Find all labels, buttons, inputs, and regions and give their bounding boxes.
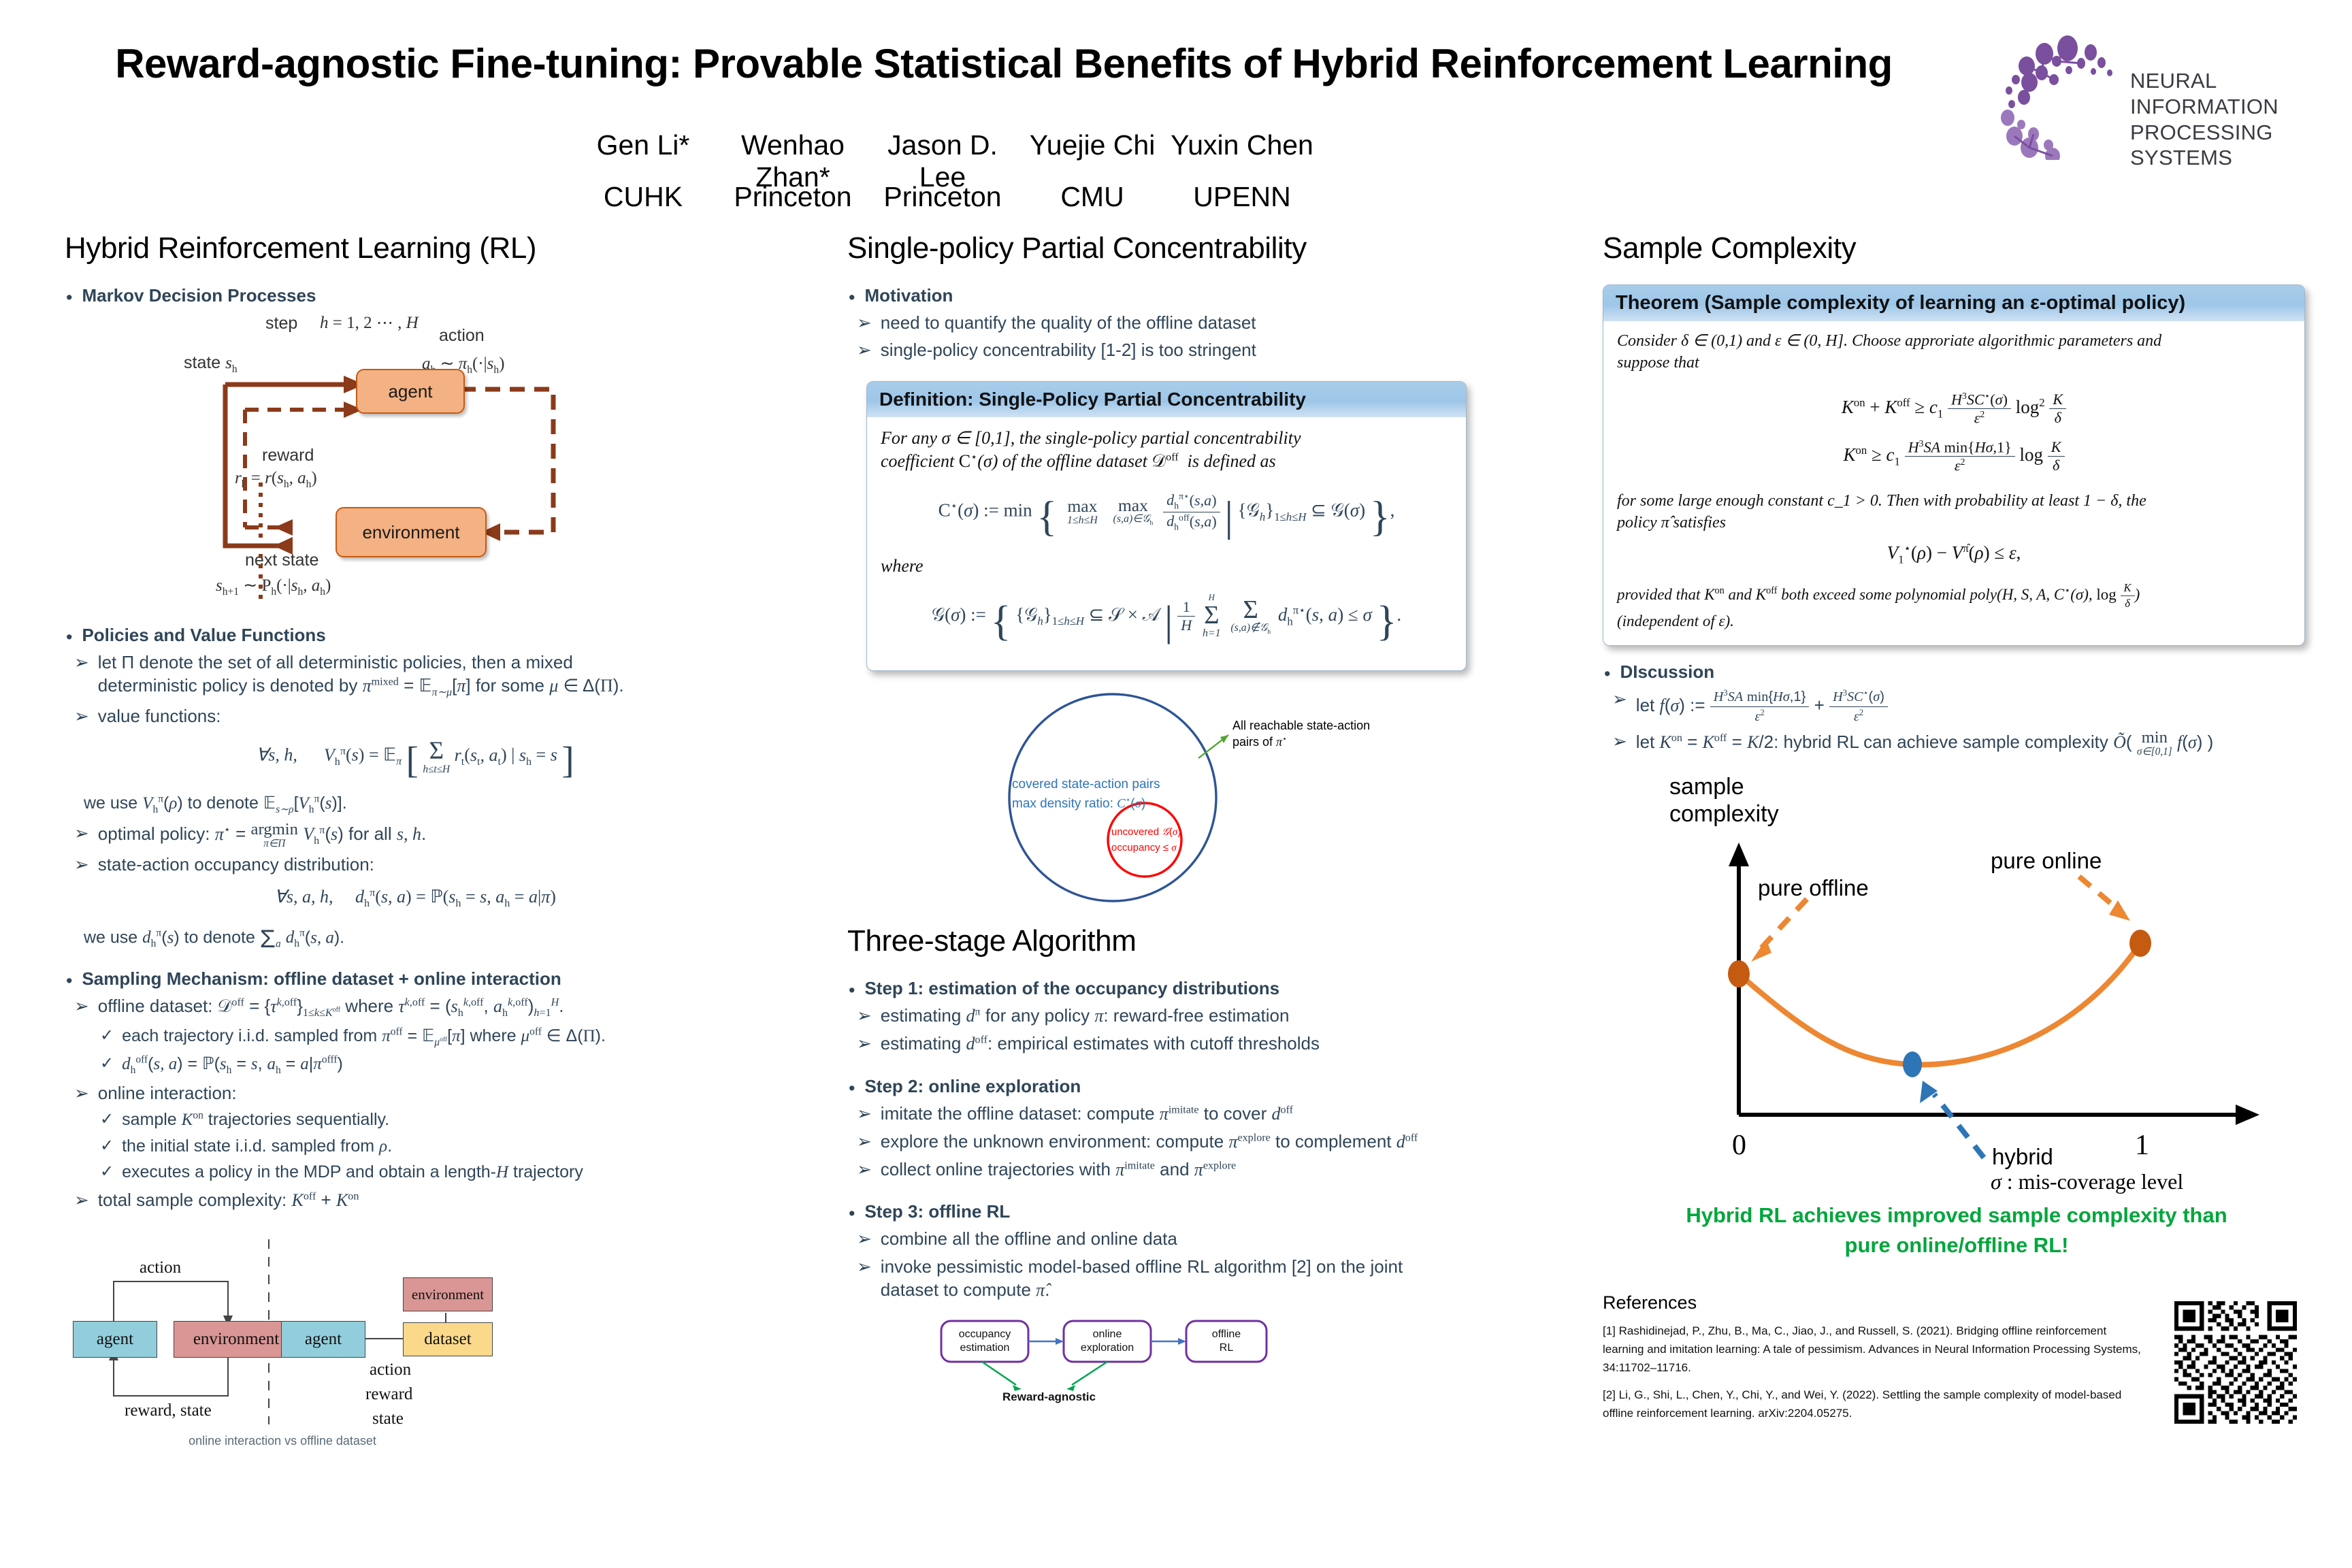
theorem-line-1: Consider δ ∈ (0,1) and ε ∈ (0, H]. Choos…: [1617, 331, 2291, 353]
arrow-icon: ➢: [74, 823, 89, 844]
venn-uncovered-line-1: uncovered 𝒢(σ): [1111, 825, 1181, 840]
three-stage-flow-diagram: occupancy estimation online exploration …: [847, 1314, 1528, 1416]
arrow-icon: ➢: [857, 1005, 872, 1026]
bullet-label: Markov Decision Processes: [82, 284, 316, 307]
mdp-arrows: [65, 311, 766, 617]
item-label: value functions:: [98, 704, 221, 728]
sample-complexity-chart: 0 1 sample complexity pure offline pure …: [1603, 761, 2310, 1196]
flow-box-offline-rl: offline RL: [1186, 1321, 1267, 1362]
bullet-label: DIscussion: [1620, 661, 1714, 683]
neurips-wordmark: NEURAL INFORMATION PROCESSING SYSTEMS: [2130, 68, 2334, 171]
venn-svg: [847, 690, 1528, 908]
affiliation: UPENN: [1167, 181, 1317, 213]
arrow-icon: ➢: [857, 312, 872, 333]
item-sample-kon: ✓ sample Kon trajectories sequentially.: [65, 1109, 766, 1132]
check-icon: ✓: [100, 1162, 114, 1182]
bullet-label: Sampling Mechanism: offline dataset + on…: [82, 968, 561, 990]
diagram-environment-box-offline: environment: [403, 1277, 493, 1311]
x-axis-arrowhead: [2236, 1105, 2259, 1125]
affiliation: CMU: [1017, 181, 1167, 213]
item-value-functions: ➢ value functions:: [65, 704, 766, 728]
x-tick-1: 1: [2135, 1130, 2149, 1161]
x-axis-label: σ : mis-coverage level: [1991, 1169, 2183, 1194]
y-axis-label-line-1: sample: [1669, 773, 1779, 800]
mdp-agent-box: agent: [356, 369, 465, 414]
flow-box-line-2: exploration: [1081, 1341, 1134, 1355]
item-line-2: deterministic policy is denoted by πmixe…: [98, 675, 624, 696]
author-name: Yuxin Chen: [1167, 129, 1317, 161]
flow-caption-reward-agnostic: Reward-agnostic: [1002, 1390, 1096, 1404]
affiliation: CUHK: [568, 181, 718, 213]
bullet-dot-icon: •: [849, 981, 855, 1000]
item-combine-data: ➢ combine all the offline and online dat…: [847, 1227, 1528, 1250]
bullet-label: Step 2: online exploration: [864, 1075, 1081, 1098]
bullet-policies-value-functions: • Policies and Value Functions: [65, 624, 766, 647]
bullet-motivation: • Motivation: [847, 284, 1528, 307]
definition-heading: Definition: Single-Policy Partial Concen…: [867, 382, 1466, 417]
venn-uncovered-line-2: occupancy ≤ σ: [1111, 840, 1181, 856]
section-title-sample-complexity: Sample Complexity: [1603, 231, 2310, 265]
page-title: Reward-agnostic Fine-tuning: Provable St…: [27, 42, 1980, 85]
diagram-caption: online interaction vs offline dataset: [65, 1434, 500, 1448]
check-icon: ✓: [100, 1026, 114, 1046]
neurips-swirl-icon: [1994, 31, 2130, 160]
flow-box-line-1: online: [1093, 1328, 1122, 1341]
item-initial-state: ✓ the initial state i.i.d. sampled from …: [65, 1135, 766, 1158]
marker-hybrid: [1903, 1051, 1922, 1077]
item-line-1: invoke pessimistic model-based offline R…: [881, 1256, 1403, 1277]
item-execute-policy: ✓ executes a policy in the MDP and obtai…: [65, 1161, 766, 1184]
diagram-reward-label-2: reward: [365, 1385, 412, 1404]
conclusion-line-1: Hybrid RL achieves improved sample compl…: [1603, 1200, 2310, 1230]
venn-outer-label-line-2: pairs of π⋆: [1232, 734, 1370, 750]
item-line-2: dataset to compute π̂.: [881, 1279, 1050, 1300]
item-quantify-quality: ➢ need to quantify the quality of the of…: [847, 311, 1528, 334]
arrow-icon: ➢: [857, 1033, 872, 1054]
marker-pure-online: [2129, 930, 2151, 957]
venn-outer-label-line-1: All reachable state-action: [1232, 717, 1370, 734]
definition-equation-2: 𝒢(σ) := { {𝒢h}1≤h≤H ⊆ 𝒮 × 𝒜 | 1H HΣh=1 Σ…: [881, 593, 1452, 646]
venn-covered-line-1: covered state-action pairs: [1012, 775, 1160, 795]
definition-line-1: For any σ ∈ [0,1], the single-policy par…: [881, 427, 1452, 451]
theorem-line-4: policy π̂ satisfies: [1617, 512, 2291, 534]
diagram-agent-box-online: agent: [73, 1321, 157, 1358]
arrow-icon: ➢: [857, 1131, 872, 1152]
venn-covered-label: covered state-action pairs max density r…: [1012, 775, 1160, 814]
bullet-step-2: • Step 2: online exploration: [847, 1075, 1528, 1098]
item-offline-dataset: ➢ offline dataset: 𝒟off = {τk,off}1≤k≤Ko…: [65, 994, 766, 1020]
flow-box-occupancy-estimation: occupancy estimation: [941, 1321, 1028, 1362]
item-f-sigma-definition: ➢ let f(σ) := H3SA min{Hσ,1}ε2 + H3SC⋆(σ…: [1603, 687, 2310, 725]
bullet-label: Motivation: [864, 284, 953, 307]
arrow-icon: ➢: [74, 854, 89, 875]
venn-outer-label: All reachable state-action pairs of π⋆: [1232, 717, 1370, 751]
flow-box-line-2: RL: [1220, 1341, 1233, 1355]
author-name: Yuejie Chi: [1017, 129, 1167, 161]
arrow-icon: ➢: [74, 652, 89, 673]
diagram-action-label: action: [140, 1258, 181, 1277]
reference-item: [2] Li, G., Shi, L., Chen, Y., Chi, Y., …: [1603, 1386, 2147, 1422]
check-icon: ✓: [100, 1054, 114, 1074]
item-iid-sampled: ✓ each trajectory i.i.d. sampled from πo…: [65, 1025, 766, 1049]
neurips-logo: NEURAL INFORMATION PROCESSING SYSTEMS: [1994, 31, 2334, 160]
column-middle: Single-policy Partial Concentrability • …: [847, 231, 1528, 1416]
diagram-action-label-2: action: [370, 1360, 411, 1379]
item-label: need to quantify the quality of the offl…: [881, 311, 1256, 334]
bullet-sampling-mechanism: • Sampling Mechanism: offline dataset + …: [65, 968, 766, 990]
bullet-dot-icon: •: [849, 1079, 855, 1098]
diagram-dataset-box: dataset: [403, 1322, 493, 1356]
check-icon: ✓: [100, 1137, 114, 1156]
theorem-equation-3: V1⋆(ρ) − Vπ̂(ρ) ≤ ε,: [1617, 541, 2291, 566]
item-label: single-policy concentrability [1-2] is t…: [881, 338, 1256, 361]
column-left: Hybrid Reinforcement Learning (RL) • Mar…: [65, 231, 766, 1464]
bullet-discussion: • DIscussion: [1603, 661, 2310, 683]
arrow-icon: ➢: [74, 996, 89, 1017]
section-title-concentrability: Single-policy Partial Concentrability: [847, 231, 1528, 265]
definition-box: Definition: Single-Policy Partial Concen…: [866, 381, 1467, 671]
logo-line-1: NEURAL INFORMATION: [2130, 68, 2334, 120]
affiliation: Princeton: [718, 181, 868, 213]
arrow-icon: ➢: [74, 1190, 89, 1211]
theorem-line-3: for some large enough constant c_1 > 0. …: [1617, 491, 2291, 512]
arrow-icon: ➢: [857, 1228, 872, 1249]
marker-pure-offline: [1728, 960, 1750, 987]
item-invoke-pessimistic: ➢ invoke pessimistic model-based offline…: [847, 1255, 1528, 1303]
column-right: Sample Complexity Theorem (Sample comple…: [1603, 231, 2310, 1422]
arrow-icon: ➢: [857, 1256, 872, 1277]
item-total-sample-complexity: ➢ total sample complexity: Koff + Kon: [65, 1188, 766, 1212]
arrow-icon: ➢: [74, 1083, 89, 1104]
diagram-state-label-2: state: [372, 1409, 404, 1428]
qr-code[interactable]: [2174, 1301, 2297, 1424]
definition-where: where: [881, 555, 1452, 578]
affiliation: Princeton: [868, 181, 1017, 213]
item-label: state-action occupancy distribution:: [98, 853, 374, 876]
flow-box-line-2: estimation: [960, 1341, 1010, 1355]
author-name: Gen Li*: [568, 129, 718, 161]
bullet-dot-icon: •: [849, 289, 855, 307]
item-too-stringent: ➢ single-policy concentrability [1-2] is…: [847, 338, 1528, 361]
arrow-icon: ➢: [857, 1159, 872, 1180]
label-pure-offline: pure offline: [1758, 875, 1869, 901]
flow-box-online-exploration: online exploration: [1064, 1321, 1151, 1362]
item-imitate-offline: ➢ imitate the offline dataset: compute π…: [847, 1102, 1528, 1126]
item-label: online interaction:: [98, 1081, 237, 1105]
item-hybrid-complexity: ➢ let Kon = Koff = K/2: hybrid RL can ac…: [1603, 730, 2310, 757]
theorem-body: Consider δ ∈ (0,1) and ε ∈ (0, H]. Choos…: [1603, 321, 2304, 645]
item-online-interaction: ➢ online interaction:: [65, 1081, 766, 1105]
item-line-2-prefix: deterministic policy is denoted by: [98, 675, 358, 696]
theorem-heading: Theorem (Sample complexity of learning a…: [1603, 285, 2304, 321]
concentrability-venn-diagram: All reachable state-action pairs of π⋆ c…: [847, 690, 1528, 908]
y-axis-arrowhead: [1729, 843, 1749, 866]
online-vs-offline-diagram: agent environment agent environment data…: [65, 1239, 766, 1464]
poster-header: Reward-agnostic Fine-tuning: Provable St…: [0, 0, 2352, 231]
diagram-agent-box-offline: agent: [281, 1321, 365, 1358]
flow-box-line-1: occupancy: [959, 1328, 1011, 1341]
item-collect-trajectories: ➢ collect online trajectories with πimit…: [847, 1158, 1528, 1181]
item-label: combine all the offline and online data: [881, 1227, 1177, 1250]
y-axis-label-line-2: complexity: [1669, 800, 1779, 828]
bullet-dot-icon: •: [66, 289, 72, 307]
reference-item: [1] Rashidinejad, P., Zhu, B., Ma, C., J…: [1603, 1322, 2147, 1377]
diagram-environment-box-online: environment: [174, 1321, 299, 1358]
arrow-icon: ➢: [1612, 689, 1627, 710]
theorem-box: Theorem (Sample complexity of learning a…: [1603, 284, 2305, 646]
check-icon: ✓: [100, 1110, 114, 1130]
equation-occupancy: ∀s, a, h, dhπ(s, a) = ℙ(sh = s, ah = a|π…: [65, 887, 766, 910]
theorem-line-2: suppose that: [1617, 353, 2291, 374]
diagram-reward-state-label: reward, state: [125, 1401, 212, 1420]
label-pure-online: pure online: [1991, 848, 2102, 874]
definition-body: For any σ ∈ [0,1], the single-policy par…: [867, 417, 1466, 670]
logo-line-2: PROCESSING SYSTEMS: [2130, 120, 2334, 171]
equation-value-function: ∀s, h, Vhπ(s) = 𝔼π [ Σh≤t≤H rt(st, at) |…: [65, 738, 766, 781]
item-doff-definition: ✓ dhoff(s, a) = ℙ(sh = s, ah = a|πofff): [65, 1053, 766, 1077]
note-value-function: we use Vhπ(ρ) to denote 𝔼s∼ρ[Vhπ(s)].: [84, 792, 766, 817]
theorem-equation-1: Kon + Koff ≥ c1 H3SC⋆(σ)ε2 log2 Kδ: [1617, 391, 2291, 427]
item-explore-environment: ➢ explore the unknown environment: compu…: [847, 1130, 1528, 1154]
affiliation-list: CUHK Princeton Princeton CMU UPENN: [493, 181, 1392, 213]
label-hybrid: hybrid: [1992, 1144, 2053, 1170]
bullet-step-3: • Step 3: offline RL: [847, 1200, 1528, 1223]
arrow-pure-online: [2109, 900, 2130, 921]
bullet-markov-decision-processes: • Markov Decision Processes: [65, 284, 766, 307]
bullet-dot-icon: •: [849, 1205, 855, 1223]
arrow-icon: ➢: [857, 1103, 872, 1124]
conclusion-text: Hybrid RL achieves improved sample compl…: [1603, 1200, 2310, 1260]
definition-equation-1: C⋆(σ) := min { max1≤h≤H max(s,a)∈𝒢h dhπ⋆…: [881, 491, 1452, 542]
flow-box-line-1: offline: [1212, 1328, 1241, 1341]
bullet-dot-icon: •: [66, 972, 72, 990]
item-estimating-dpi: ➢ estimating dπ for any policy π: reward…: [847, 1004, 1528, 1028]
bullet-dot-icon: •: [66, 628, 72, 647]
section-title-three-stage: Three-stage Algorithm: [847, 924, 1528, 958]
mdp-diagram: step h = 1, 2 ⋯ , H state sh action ah ∼…: [65, 311, 766, 617]
arrow-hybrid: [1920, 1081, 1938, 1103]
bullet-step-1: • Step 1: estimation of the occupancy di…: [847, 977, 1528, 1000]
complexity-curve: [1739, 943, 2140, 1064]
bullet-label: Step 1: estimation of the occupancy dist…: [864, 977, 1279, 1000]
conclusion-line-2: pure online/offline RL!: [1603, 1230, 2310, 1260]
theorem-line-5: provided that Kon and Koff both exceed s…: [1617, 581, 2291, 611]
venn-uncovered-label: uncovered 𝒢(σ) occupancy ≤ σ: [1111, 825, 1181, 856]
y-axis-label: sample complexity: [1669, 773, 1779, 828]
item-mixed-policy: ➢ let Π denote the set of all determinis…: [65, 651, 766, 700]
bullet-label: Policies and Value Functions: [82, 624, 325, 647]
item-line-1: let Π denote the set of all deterministi…: [98, 652, 573, 672]
bullet-dot-icon: •: [1604, 665, 1610, 683]
item-optimal-policy: ➢ optimal policy: π⋆ = argminπ∈Π Vhπ(s) …: [65, 821, 766, 849]
theorem-line-6: (independent of ε).: [1617, 611, 2291, 632]
note-occupancy: we use dhπ(s) to denote Σa dhπ(s, a).: [84, 921, 766, 956]
arrow-icon: ➢: [74, 706, 89, 727]
theorem-equation-2: Kon ≥ c1 H3SA min{Hσ,1}ε2 log Kδ: [1617, 438, 2291, 475]
section-title-hybrid-rl: Hybrid Reinforcement Learning (RL): [65, 231, 766, 265]
mdp-environment-box: environment: [336, 507, 487, 557]
arrow-icon: ➢: [857, 340, 872, 361]
x-tick-0: 0: [1732, 1130, 1746, 1161]
item-estimating-doff: ➢ estimating doff: empirical estimates w…: [847, 1032, 1528, 1056]
item-occupancy-distribution: ➢ state-action occupancy distribution:: [65, 853, 766, 876]
venn-covered-line-2: max density ratio: C⋆(σ): [1012, 794, 1160, 814]
definition-line-2: coefficient C⋆(σ) of the offline dataset…: [881, 450, 1452, 474]
poster-root: Reward-agnostic Fine-tuning: Provable St…: [0, 0, 2352, 1568]
arrow-icon: ➢: [1612, 731, 1627, 752]
bullet-label: Step 3: offline RL: [864, 1200, 1010, 1223]
